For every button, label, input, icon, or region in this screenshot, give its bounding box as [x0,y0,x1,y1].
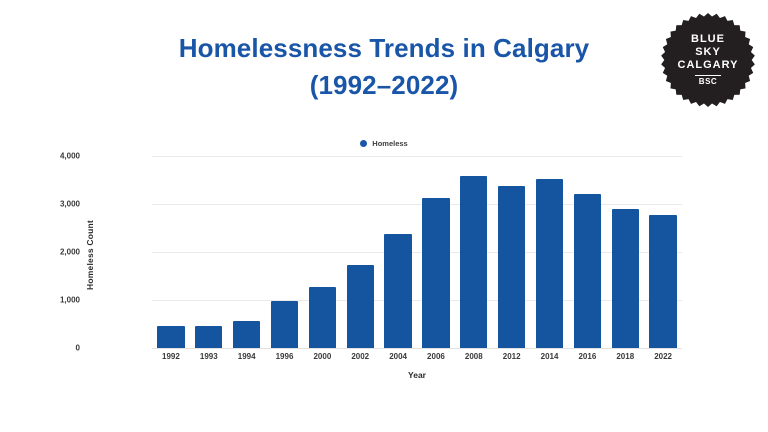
plot-area [152,156,682,348]
x-axis-tick-2008: 2008 [455,352,493,361]
bar-slot [228,156,266,348]
y-axis-title: Homeless Count [82,170,98,340]
bar-2008[interactable] [460,176,487,348]
y-axis-tick: 3,000 [60,200,80,209]
logo-line-2: SKY [695,46,721,59]
bar-slot [152,156,190,348]
x-axis-tick-2006: 2006 [417,352,455,361]
legend-marker-homeless [360,140,367,147]
y-axis-tick-labels: 01,0002,0003,0004,000 [24,156,80,348]
bar-2022[interactable] [649,215,676,348]
bar-1994[interactable] [233,321,260,348]
bar-2004[interactable] [384,234,411,348]
blue-sky-calgary-logo: BLUE SKY CALGARY BSC [660,12,756,108]
bar-2018[interactable] [612,209,639,348]
gridline [152,348,682,349]
x-axis-tick-2012: 2012 [493,352,531,361]
bar-slot [417,156,455,348]
bar-chart: Homeless Homeless Count 01,0002,0003,000… [86,132,682,394]
x-axis-tick-2016: 2016 [568,352,606,361]
bar-1993[interactable] [195,326,222,348]
bar-series-homeless [152,156,682,348]
bar-slot [644,156,682,348]
bar-2014[interactable] [536,179,563,348]
chart-legend: Homeless [86,139,682,148]
y-axis-title-text: Homeless Count [85,220,95,290]
y-axis-tick: 1,000 [60,296,80,305]
title-line-2: (1992–2022) [0,67,768,104]
bar-slot [266,156,304,348]
x-axis-tick-1994: 1994 [228,352,266,361]
y-axis-tick: 2,000 [60,248,80,257]
bar-slot [341,156,379,348]
x-axis-tick-1992: 1992 [152,352,190,361]
x-axis-tick-1993: 1993 [190,352,228,361]
bar-slot [606,156,644,348]
x-axis-tick-2018: 2018 [606,352,644,361]
logo-line-3: CALGARY [678,59,739,72]
bar-slot [568,156,606,348]
x-axis-tick-2002: 2002 [341,352,379,361]
y-axis-tick: 0 [76,344,80,353]
logo-text-block: BLUE SKY CALGARY BSC [660,12,756,108]
legend-label-homeless: Homeless [372,139,407,148]
bar-slot [379,156,417,348]
logo-divider [695,75,721,76]
bar-slot [531,156,569,348]
bar-slot [455,156,493,348]
x-axis-tick-2022: 2022 [644,352,682,361]
page-title: Homelessness Trends in Calgary (1992–202… [0,30,768,104]
bar-slot [493,156,531,348]
bar-2012[interactable] [498,186,525,348]
logo-line-4: BSC [699,77,717,86]
x-axis-tick-labels: 1992199319941996200020022004200620082012… [152,352,682,361]
x-axis-tick-2000: 2000 [303,352,341,361]
x-axis-tick-1996: 1996 [266,352,304,361]
bar-2000[interactable] [309,287,336,348]
logo-line-1: BLUE [691,33,725,46]
bar-slot [303,156,341,348]
x-axis-title: Year [152,370,682,380]
bar-1996[interactable] [271,301,298,348]
title-line-1: Homelessness Trends in Calgary [0,30,768,67]
x-axis-tick-2014: 2014 [531,352,569,361]
bar-2016[interactable] [574,194,601,348]
y-axis-tick: 4,000 [60,152,80,161]
bar-2002[interactable] [347,265,374,348]
bar-slot [190,156,228,348]
x-axis-tick-2004: 2004 [379,352,417,361]
bar-1992[interactable] [157,326,184,348]
bar-2006[interactable] [422,198,449,348]
